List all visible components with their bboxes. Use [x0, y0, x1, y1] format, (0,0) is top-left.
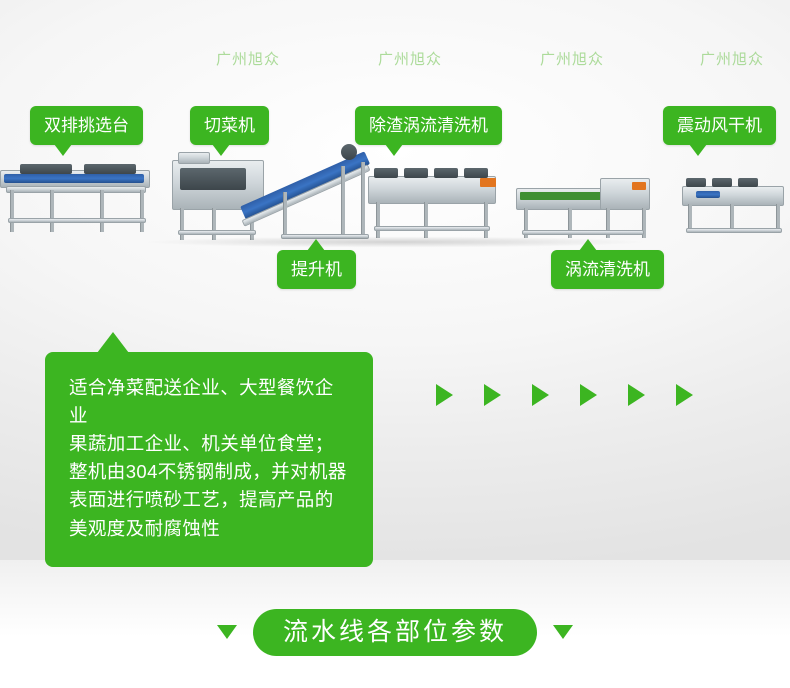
callout-tail: [97, 332, 129, 353]
label-text: 双排挑选台: [44, 116, 129, 135]
triangle-down-icon-left: [217, 625, 237, 639]
arrow-chevron-row: [436, 384, 726, 408]
label-elevator: 提升机: [277, 250, 356, 289]
description-line: 整机由304不锈钢制成，并对机器: [69, 458, 349, 486]
label-vibration-air-dryer: 震动风干机: [663, 106, 776, 145]
section-title-bar: 流水线各部位参数: [0, 608, 790, 656]
chevron-right-icon: [628, 384, 645, 406]
machine-slag-vortex-washer: [368, 166, 504, 246]
description-line: 表面进行喷砂工艺，提高产品的: [69, 486, 349, 514]
description-line: 适合净菜配送企业、大型餐饮企业: [69, 374, 349, 430]
callout-tail: [579, 239, 597, 251]
machine-elevator: [245, 146, 375, 246]
label-vortex-washer: 涡流清洗机: [551, 250, 664, 289]
label-text: 提升机: [291, 260, 342, 279]
callout-tail: [212, 144, 230, 156]
watermark-text: 广州旭众: [700, 48, 764, 69]
triangle-down-icon-right: [553, 625, 573, 639]
chevron-right-icon: [436, 384, 453, 406]
section-title: 流水线各部位参数: [253, 609, 537, 656]
label-text: 涡流清洗机: [565, 260, 650, 279]
chevron-right-icon: [580, 384, 597, 406]
chevron-right-icon: [484, 384, 501, 406]
callout-tail: [385, 144, 403, 156]
chevron-right-icon: [532, 384, 549, 406]
description-callout: 适合净菜配送企业、大型餐饮企业 果蔬加工企业、机关单位食堂； 整机由304不锈钢…: [45, 352, 373, 567]
machine-double-row-sorting-table: [0, 160, 150, 240]
label-text: 除渣涡流清洗机: [369, 116, 488, 135]
watermark-text: 广州旭众: [216, 48, 280, 69]
label-vegetable-cutter: 切菜机: [190, 106, 269, 145]
chevron-right-icon: [676, 384, 693, 406]
watermark-text: 广州旭众: [540, 48, 604, 69]
ground-shadow: [0, 236, 790, 248]
label-text: 震动风干机: [677, 116, 762, 135]
watermark-text: 广州旭众: [378, 48, 442, 69]
label-text: 切菜机: [204, 116, 255, 135]
callout-tail: [54, 144, 72, 156]
label-slag-vortex-washer: 除渣涡流清洗机: [355, 106, 502, 145]
label-double-row-sorting-table: 双排挑选台: [30, 106, 143, 145]
description-line: 美观度及耐腐蚀性: [69, 515, 349, 543]
description-line: 果蔬加工企业、机关单位食堂；: [69, 430, 349, 458]
production-line-illustration: [0, 140, 790, 250]
callout-tail: [307, 239, 325, 251]
callout-tail: [689, 144, 707, 156]
